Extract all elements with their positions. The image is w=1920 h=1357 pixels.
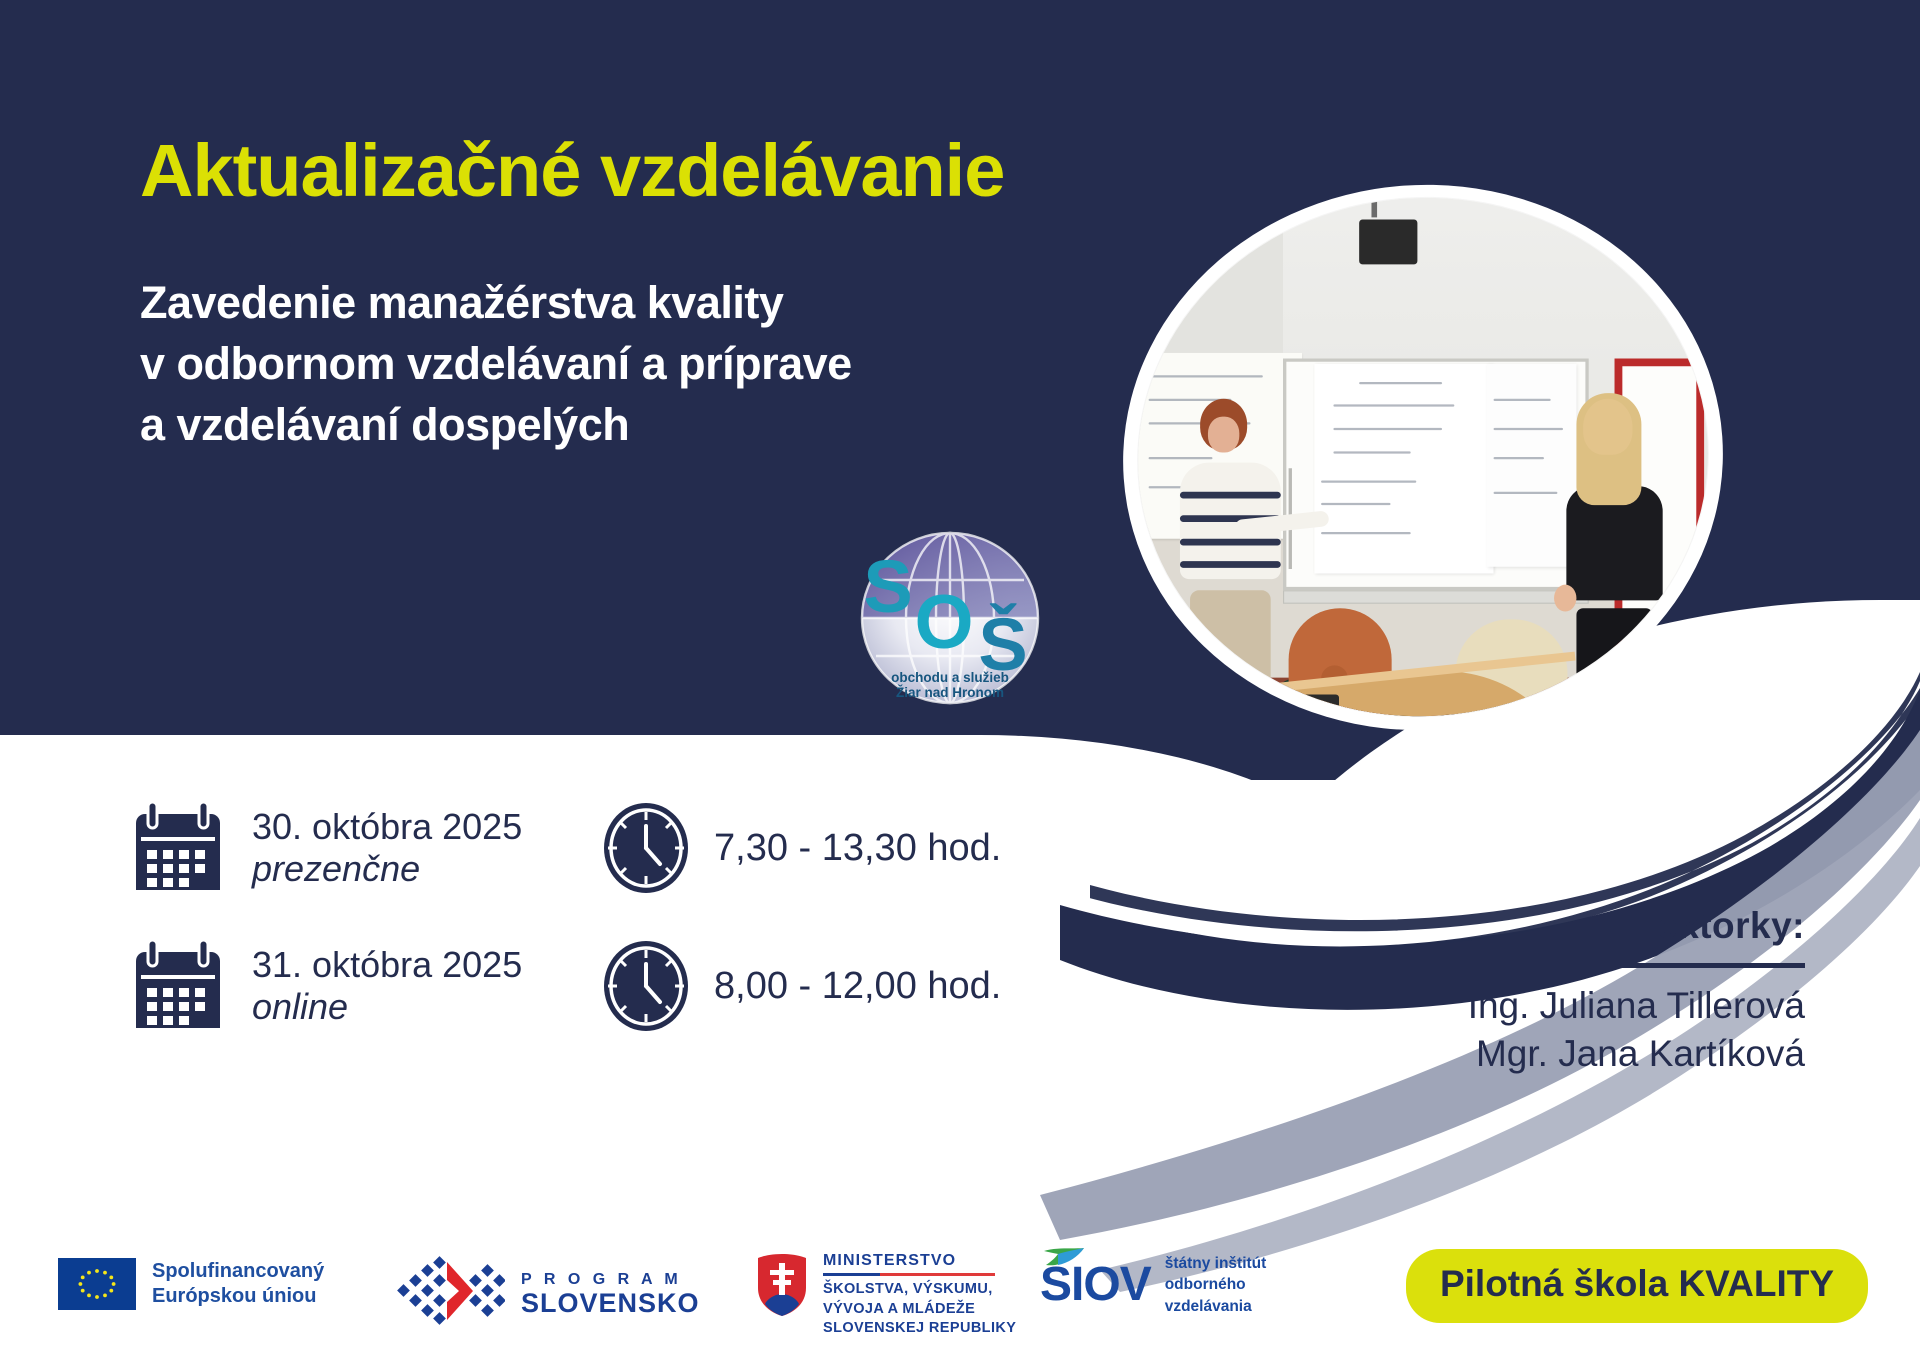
siov-wordmark: SIOV xyxy=(1040,1258,1151,1311)
schedule-date: 30. októbra 2025 xyxy=(252,806,522,847)
sos-logo-line1: obchodu a služieb xyxy=(891,670,1009,685)
calendar-icon xyxy=(130,938,226,1034)
lecturer-name: Ing. Juliana Tillerová xyxy=(1405,982,1805,1030)
subtitle-line-3: a vzdelávaní dospelých xyxy=(140,394,852,455)
ministry-text: MINISTERSTVO ŠKOLSTVA, VÝSKUMU, VÝVOJA A… xyxy=(823,1252,1016,1339)
schedule-time: 7,30 - 13,30 hod. xyxy=(714,827,1001,870)
schedule-date-text: 31. októbra 2025 online xyxy=(252,944,522,1029)
sos-letter-s: S xyxy=(863,545,912,628)
clock-icon xyxy=(600,940,692,1032)
slovak-crest-icon xyxy=(755,1252,809,1323)
ministry-line1: MINISTERSTVO xyxy=(823,1252,1016,1273)
schedule-row: 31. októbra 2025 online xyxy=(130,938,1001,1034)
ministry-logo: MINISTERSTVO ŠKOLSTVA, VÝSKUMU, VÝVOJA A… xyxy=(755,1252,1016,1339)
sos-logo-line2: Žiar nad Hronom xyxy=(896,685,1004,700)
clock-icon xyxy=(600,802,692,894)
ministry-line2: ŠKOLSTVA, VÝSKUMU, xyxy=(823,1280,1016,1300)
lecturer-name: Mgr. Jana Kartíková xyxy=(1405,1030,1805,1078)
schedule-row: 30. októbra 2025 prezenčne xyxy=(130,800,1001,896)
schedule-date: 31. októbra 2025 xyxy=(252,944,522,985)
eu-flag-icon xyxy=(58,1258,136,1310)
schedule-time-group: 8,00 - 12,00 hod. xyxy=(600,940,1001,1032)
schedule-mode: online xyxy=(252,986,522,1028)
program-line2: SLOVENSKO xyxy=(521,1289,700,1317)
status-badge: Pilotná škola KVALITY xyxy=(1406,1249,1868,1323)
ministry-line3: VÝVOJA A MLÁDEŽE xyxy=(823,1300,1016,1320)
siov-logo: SIOV štátny inštitút odborného vzdelávan… xyxy=(1040,1253,1266,1317)
sos-school-logo: S O Š obchodu a služieb Žiar nad Hronom xyxy=(840,530,1060,705)
program-slovensko-text: P R O G R A M SLOVENSKO xyxy=(521,1272,700,1317)
schedule-time-group: 7,30 - 13,30 hod. xyxy=(600,802,1001,894)
lecturers-block: Lektorky: Ing. Juliana Tillerová Mgr. Ja… xyxy=(1405,905,1805,1078)
subtitle: Zavedenie manažérstva kvality v odbornom… xyxy=(140,272,852,456)
lecturers-divider xyxy=(1405,963,1805,968)
page-title: Aktualizačné vzdelávanie xyxy=(140,128,1004,213)
subtitle-line-2: v odbornom vzdelávaní a príprave xyxy=(140,333,852,394)
program-line1: P R O G R A M xyxy=(521,1272,700,1289)
poster-canvas: Aktualizačné vzdelávanie Zavedenie manaž… xyxy=(0,0,1920,1357)
eu-logo-text: Spolufinancovaný Európskou úniou xyxy=(152,1259,324,1309)
eu-cofunding-logo: Spolufinancovaný Európskou úniou xyxy=(58,1258,324,1310)
schedule-time: 8,00 - 12,00 hod. xyxy=(714,965,1001,1008)
schedule-date-group: 30. októbra 2025 prezenčne xyxy=(130,800,600,896)
sos-letter-o: O xyxy=(914,580,973,665)
siov-line3: vzdelávania xyxy=(1165,1296,1267,1317)
siov-line1: štátny inštitút xyxy=(1165,1253,1267,1274)
eu-logo-line1: Spolufinancovaný xyxy=(152,1259,324,1284)
program-slovensko-mark-icon xyxy=(395,1256,505,1333)
schedule-date-text: 30. októbra 2025 prezenčne xyxy=(252,806,522,891)
ministry-line4: SLOVENSKEJ REPUBLIKY xyxy=(823,1319,1016,1339)
siov-text: štátny inštitút odborného vzdelávania xyxy=(1165,1253,1267,1317)
schedule-date-group: 31. októbra 2025 online xyxy=(130,938,600,1034)
siov-line2: odborného xyxy=(1165,1274,1267,1295)
calendar-icon xyxy=(130,800,226,896)
eu-logo-line2: Európskou úniou xyxy=(152,1284,324,1309)
schedule-mode: prezenčne xyxy=(252,848,522,890)
lecturers-title: Lektorky: xyxy=(1405,905,1805,947)
schedule-block: 30. októbra 2025 prezenčne xyxy=(130,800,1001,1076)
ministry-divider xyxy=(823,1273,995,1276)
subtitle-line-1: Zavedenie manažérstva kvality xyxy=(140,272,852,333)
classroom-photo xyxy=(1121,179,1726,735)
program-slovensko-logo: P R O G R A M SLOVENSKO xyxy=(395,1256,700,1333)
